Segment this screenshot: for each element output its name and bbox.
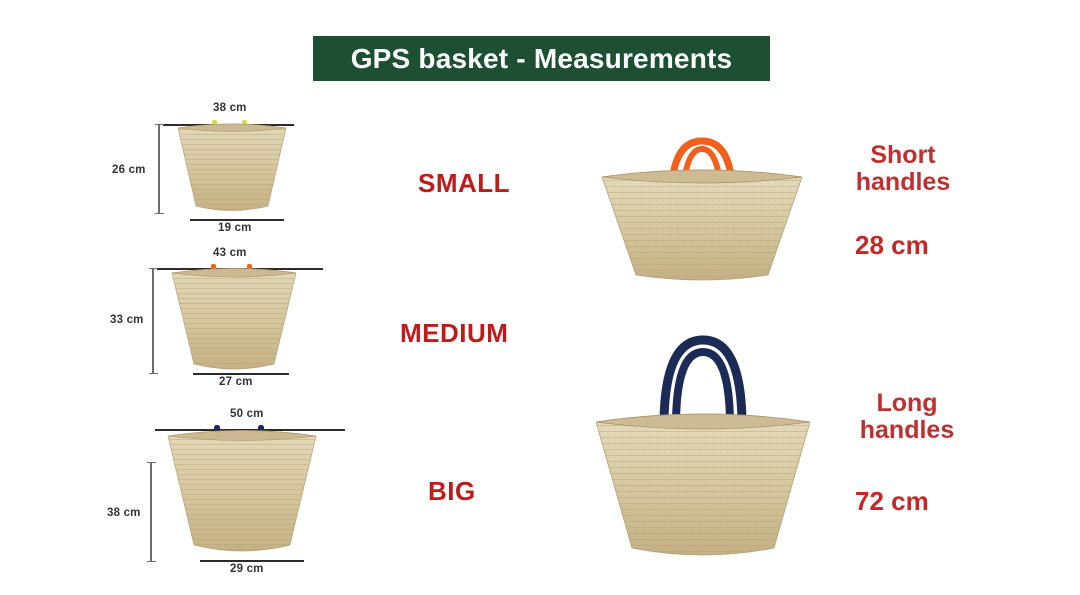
page-title: GPS basket - Measurements xyxy=(351,43,733,75)
big-height-label: 38 cm xyxy=(107,507,141,519)
size-label-medium: MEDIUM xyxy=(400,318,508,349)
small-bottom-width-label: 19 cm xyxy=(218,222,252,234)
basket-photo-long-handles xyxy=(592,330,814,562)
short-handles-title: Short handles xyxy=(818,142,988,196)
slide-canvas: GPS basket - Measurements 38 cm 26 cm xyxy=(0,0,1080,595)
basket-illustration-small xyxy=(176,120,288,216)
medium-top-width-label: 43 cm xyxy=(213,247,247,259)
small-height-label: 26 cm xyxy=(112,164,146,176)
size-label-small: SMALL xyxy=(418,168,510,199)
small-height-rule xyxy=(158,124,160,214)
medium-bottom-width-label: 27 cm xyxy=(219,376,253,388)
basket-illustration-big xyxy=(166,425,318,559)
medium-bottom-rule xyxy=(193,373,289,375)
big-top-width-label: 50 cm xyxy=(230,408,264,420)
basket-photo-short-handles xyxy=(598,133,806,285)
long-handles-length: 72 cm xyxy=(855,486,929,517)
size-label-big: BIG xyxy=(428,476,476,507)
big-bottom-width-label: 29 cm xyxy=(230,563,264,575)
title-banner: GPS basket - Measurements xyxy=(313,36,770,81)
short-handles-length: 28 cm xyxy=(855,230,929,261)
big-bottom-rule xyxy=(200,560,304,562)
medium-height-label: 33 cm xyxy=(110,314,144,326)
small-bottom-rule xyxy=(190,219,284,221)
big-height-rule xyxy=(150,462,152,562)
small-top-width-label: 38 cm xyxy=(213,102,247,114)
long-handles-title: Long handles xyxy=(822,390,992,444)
medium-height-rule xyxy=(152,268,154,374)
basket-illustration-medium xyxy=(170,264,298,376)
